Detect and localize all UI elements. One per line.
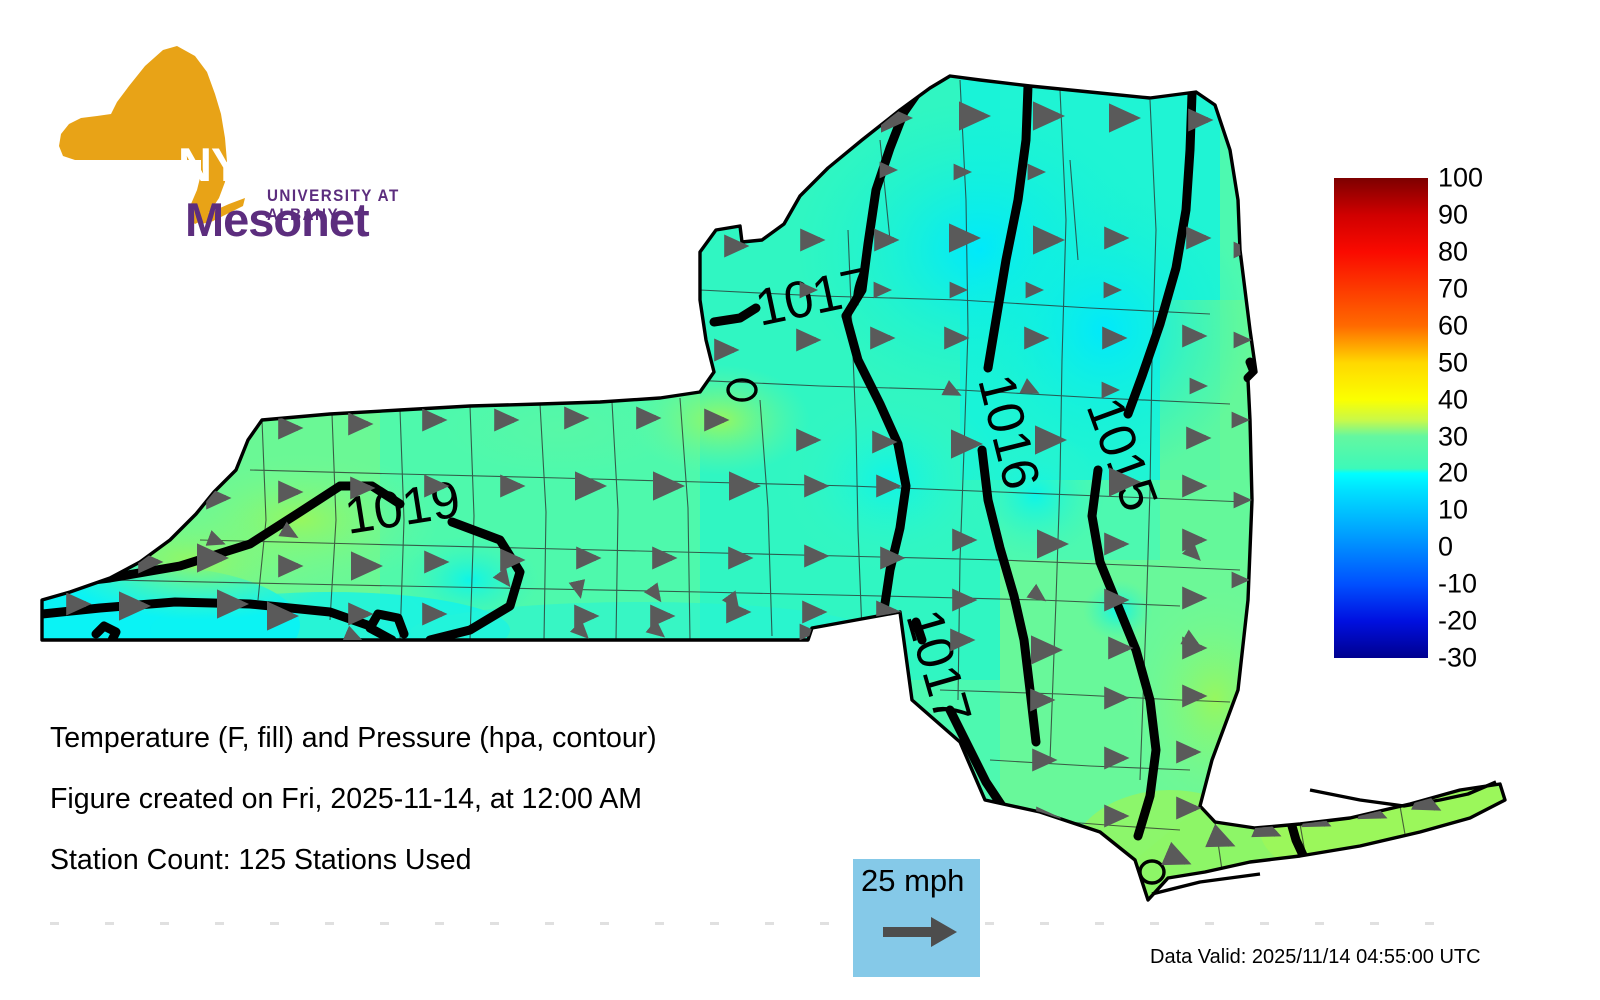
colorbar-gradient [1334,178,1428,658]
colorbar-tick: -30 [1438,643,1477,674]
logo-nys-text: NYS [178,137,272,192]
plot-title: Temperature (F, fill) and Pressure (hpa,… [50,722,657,755]
colorbar-tick: 20 [1438,458,1468,489]
wind-scale-legend: 25 mph [853,859,980,977]
wind-scale-arrow-icon [883,915,959,949]
colorbar-tick: 50 [1438,347,1468,378]
colorbar-tick: 100 [1438,163,1483,194]
colorbar-tick: 60 [1438,310,1468,341]
colorbar-tick: -10 [1438,569,1477,600]
colorbar-tick: -20 [1438,606,1477,637]
nys-mesonet-logo: NYSMesonet UNIVERSITY AT ALBANY [55,42,455,227]
colorbar-tick: 0 [1438,532,1453,563]
figure-created-text: Figure created on Fri, 2025-11-14, at 12… [50,783,642,816]
station-count-text: Station Count: 125 Stations Used [50,844,471,877]
colorbar-tick: 70 [1438,273,1468,304]
colorbar: 100 90 80 70 60 50 40 30 20 10 0 -10 -20… [1334,178,1428,658]
colorbar-tick: 90 [1438,199,1468,230]
colorbar-tick: 40 [1438,384,1468,415]
logo-subtitle: UNIVERSITY AT ALBANY [267,187,440,225]
colorbar-tick: 10 [1438,495,1468,526]
colorbar-tick: 80 [1438,236,1468,267]
colorbar-tick: 30 [1438,421,1468,452]
clipped-text-artifact [50,922,1440,925]
wind-scale-label: 25 mph [861,863,964,899]
data-valid-timestamp: Data Valid: 2025/11/14 04:55:00 UTC [1150,946,1481,969]
